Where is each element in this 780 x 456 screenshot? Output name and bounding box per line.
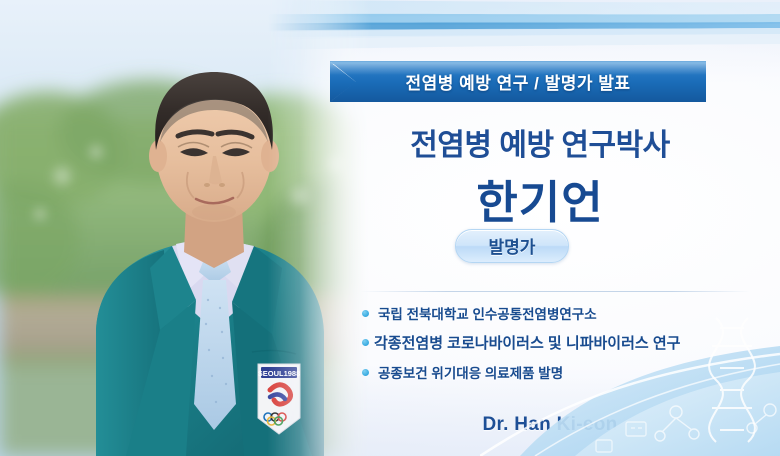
bullet-dot-icon <box>362 310 369 317</box>
bullet-dot-icon <box>362 339 369 346</box>
slide-canvas: SEOUL1988 <box>0 0 780 456</box>
role-pill-label: 발명가 <box>489 233 536 259</box>
svg-text:SEOUL1988: SEOUL1988 <box>258 369 301 378</box>
speaker-name: 한기언 <box>338 166 742 231</box>
ribbon-banner: 전염병 예방 연구 / 발명가 발표 <box>330 61 706 102</box>
role-pill: 발명가 <box>455 229 569 263</box>
page-headline: 전염병 예방 연구박사 <box>338 120 742 164</box>
corner-science-decoration <box>480 306 780 456</box>
ribbon-label: 전염병 예방 연구 / 발명가 발표 <box>330 61 706 102</box>
section-divider <box>360 291 750 292</box>
bullet-dot-icon <box>362 369 369 376</box>
speaker-photo: SEOUL1988 <box>0 0 372 456</box>
